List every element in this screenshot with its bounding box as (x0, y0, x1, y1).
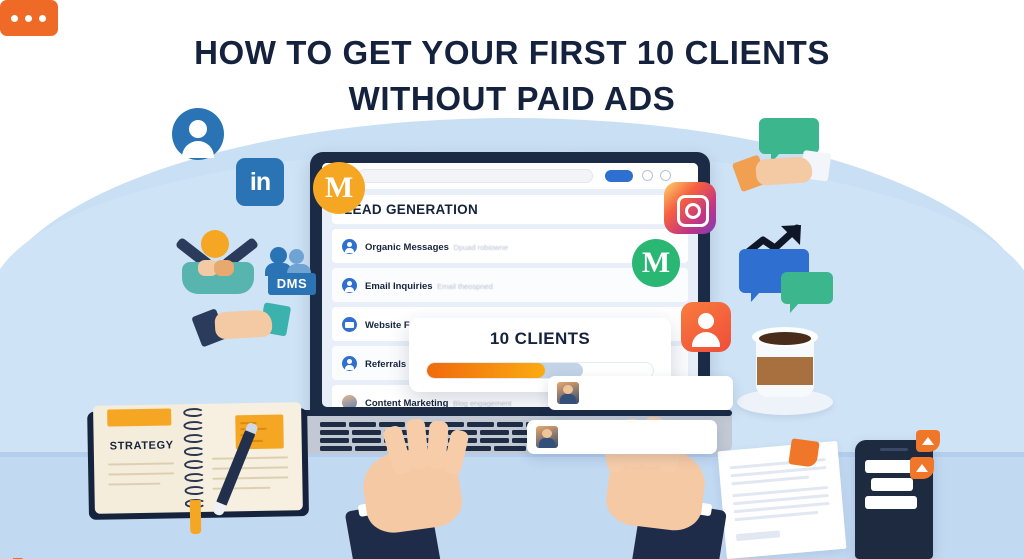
page-title: HOW TO GET YOUR FIRST 10 CLIENTS WITHOUT… (0, 30, 1024, 121)
phone-speaker (880, 448, 908, 451)
list-item-subtitle: Blog engagement (453, 399, 512, 407)
notification-card[interactable] (527, 420, 717, 454)
client-count-label: 10 CLIENTS (409, 329, 671, 349)
partnership-icon (174, 230, 264, 300)
notebook-spiral (183, 406, 207, 512)
dms-label: DMS (268, 273, 316, 295)
chat-bubble-icon-green-bottom (781, 272, 833, 304)
browser-icon-1[interactable] (642, 170, 653, 181)
sticky-note-1 (107, 408, 171, 426)
instagram-icon (664, 182, 716, 234)
chat-dot-1 (11, 15, 18, 22)
handshake-palms (214, 310, 272, 340)
notification-card[interactable] (548, 376, 733, 410)
gmail-icon-orange: M (313, 162, 365, 214)
linkedin-icon: in (236, 158, 284, 206)
hand-left (360, 432, 550, 559)
user-avatar-icon (342, 278, 357, 293)
user-icon (172, 108, 224, 160)
chat-dot-3 (39, 15, 46, 22)
linkedin-label: in (250, 168, 270, 197)
laptop-hinge (288, 410, 732, 416)
user-avatar-icon (342, 356, 357, 371)
phone-message-bar (865, 496, 917, 509)
dms-head-2 (289, 249, 304, 264)
notebook-label: STRATEGY (110, 439, 174, 452)
list-item-title: Email Inquiries (365, 281, 433, 292)
browser-action-button[interactable] (605, 170, 633, 182)
notebook-bookmark (190, 500, 202, 534)
panel-heading: LEAD GENERATION (332, 195, 688, 224)
coffee-liquid (759, 332, 811, 345)
mail-icon (342, 317, 357, 332)
dms-head-1 (270, 247, 287, 264)
dms-group-icon: DMS (262, 245, 322, 297)
list-item-subtitle: Dpuad robiowne (453, 243, 508, 252)
title-line-1: HOW TO GET YOUR FIRST 10 CLIENTS (0, 30, 1024, 76)
title-line-2: WITHOUT PAID ADS (0, 76, 1024, 122)
phone-message-bar (871, 478, 913, 491)
coffee-sleeve (757, 357, 813, 385)
handshake-icon-top (734, 143, 833, 200)
photo-avatar-icon (342, 395, 357, 408)
avatar (557, 382, 579, 404)
notification-badge (916, 430, 940, 452)
user-avatar-icon (342, 239, 357, 254)
partnership-hand-right (214, 260, 234, 276)
handshake-icon-left (195, 298, 293, 353)
gmail-green-label: M (642, 246, 670, 280)
browser-icon-2[interactable] (660, 170, 671, 181)
list-item-title: Organic Messages (365, 242, 449, 253)
list-item-title: Content Marketing (365, 398, 448, 407)
illustration-canvas: HOW TO GET YOUR FIRST 10 CLIENTS WITHOUT… (0, 0, 1024, 559)
partnership-sun (201, 230, 229, 258)
list-item-title: Referrals (365, 359, 406, 370)
gmail-orange-label: M (325, 171, 353, 205)
progress-fill (427, 363, 545, 378)
notebook: STRATEGY (83, 398, 311, 522)
profile-icon-orange (681, 302, 731, 352)
browser-chrome (322, 163, 698, 189)
chat-dot-2 (25, 15, 32, 22)
handshake-palms (755, 156, 813, 186)
laptop-screen: LEAD GENERATION Organic Messages Dpuad r… (322, 163, 698, 407)
address-bar[interactable] (358, 169, 593, 183)
coffee-cup (737, 323, 833, 417)
notification-badge (910, 457, 934, 479)
gmail-icon-green: M (632, 239, 680, 287)
avatar (536, 426, 558, 448)
list-item-subtitle: Email theospned (437, 282, 493, 291)
